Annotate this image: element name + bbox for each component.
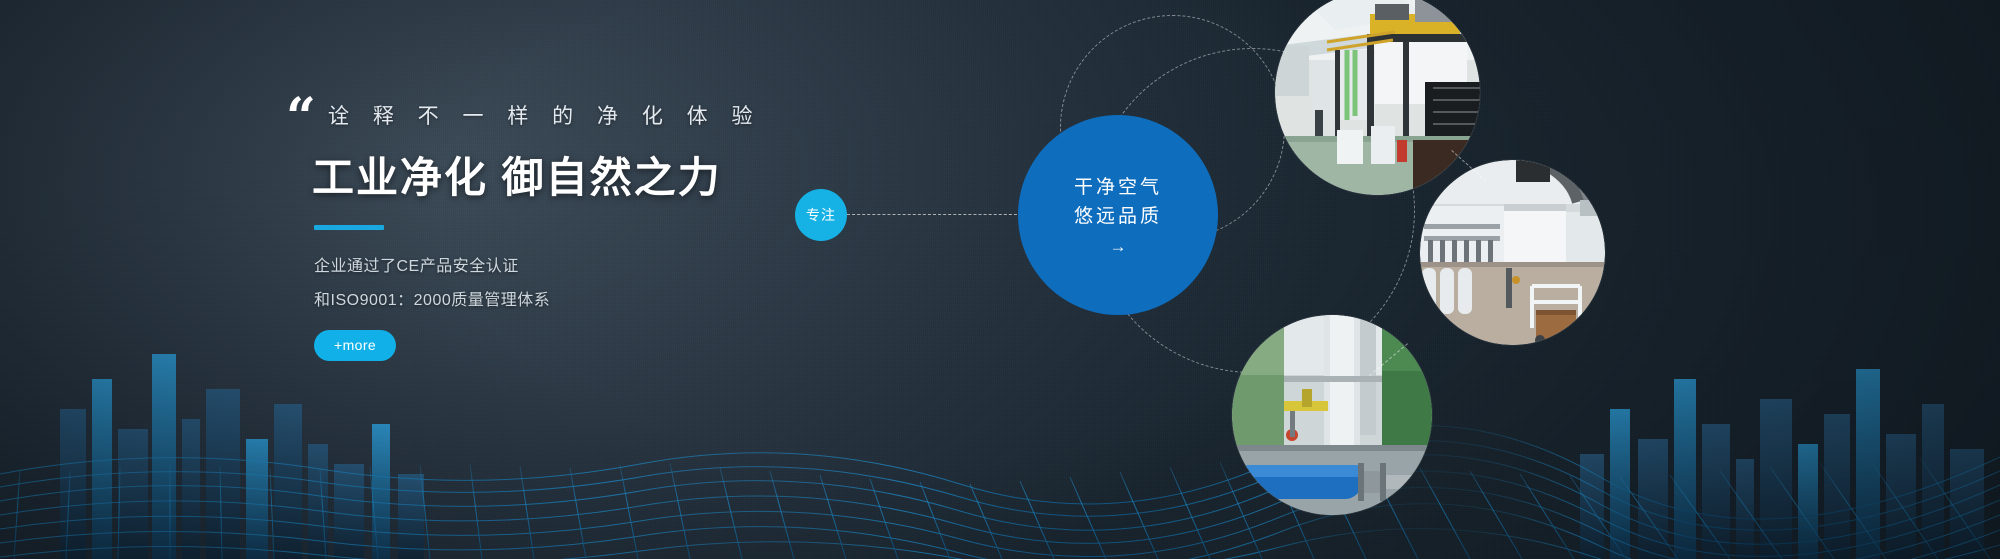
quote-mark-icon: “	[286, 92, 314, 144]
dashed-connector-line	[847, 214, 1022, 215]
arrow-right-icon: →	[1110, 237, 1127, 257]
clean-air-circle[interactable]: 干净空气 悠远品质 →	[1018, 115, 1218, 315]
focus-badge[interactable]: 专注	[795, 189, 847, 241]
photo-piping-equipment[interactable]	[1232, 315, 1432, 515]
focus-badge-label: 专注	[806, 205, 836, 225]
accent-rule-divider	[314, 225, 384, 230]
photo-spinning-machines[interactable]	[1420, 160, 1605, 345]
clean-air-line-2: 悠远品质	[1074, 202, 1162, 231]
clean-air-line-1: 干净空气	[1074, 173, 1162, 202]
hero-body-line-2: 和ISO9001：2000质量管理体系	[314, 286, 930, 310]
more-button[interactable]: +more	[314, 330, 396, 361]
hero-banner: “ 诠 释 不 一 样 的 净 化 体 验 工业净化 御自然之力 企业通过了CE…	[0, 0, 2000, 559]
photo-factory-line[interactable]	[1275, 0, 1480, 195]
skyline-right	[1580, 369, 1984, 559]
hero-subtitle: 诠 释 不 一 样 的 净 化 体 验	[328, 100, 930, 130]
hero-body-line-1: 企业通过了CE产品安全认证	[314, 252, 930, 276]
city-skyline-graphic	[0, 259, 2000, 559]
skyline-left	[60, 354, 424, 559]
